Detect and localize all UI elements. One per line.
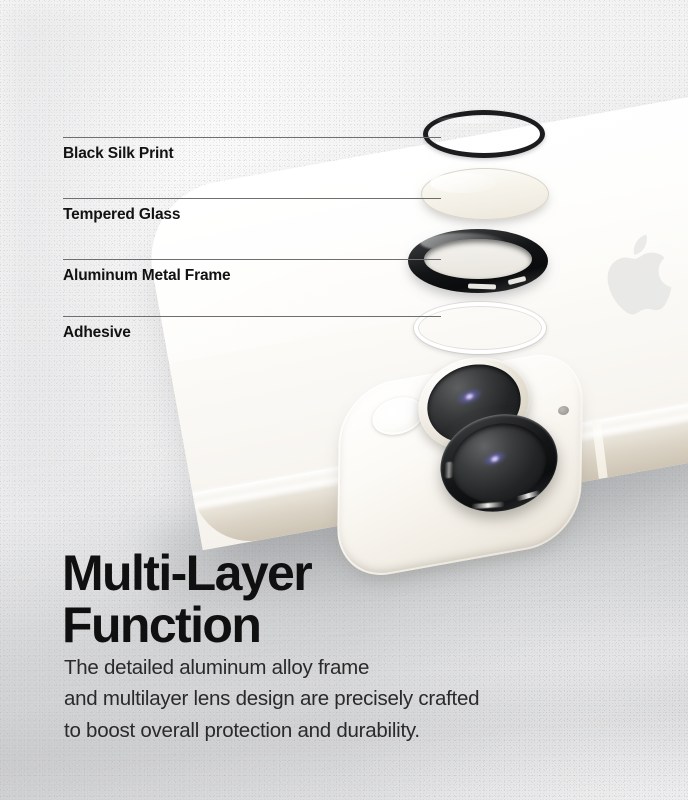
- callout-label-black-silk-print: Black Silk Print: [63, 145, 173, 163]
- callout-leader-line: [63, 198, 441, 199]
- callout-label-aluminum-metal-frame: Aluminum Metal Frame: [63, 267, 231, 285]
- body-description: The detailed aluminum alloy frame and mu…: [64, 652, 479, 746]
- product-marketing-image: Black Silk Print Tempered Glass Aluminum…: [0, 0, 688, 800]
- callout-leader-line: [63, 259, 441, 260]
- callout-leader-line: [63, 137, 441, 138]
- callout-label-tempered-glass: Tempered Glass: [63, 206, 180, 224]
- callout-leader-line: [63, 316, 441, 317]
- page-title: Multi-Layer Function: [62, 548, 311, 651]
- callout-label-adhesive: Adhesive: [63, 324, 131, 342]
